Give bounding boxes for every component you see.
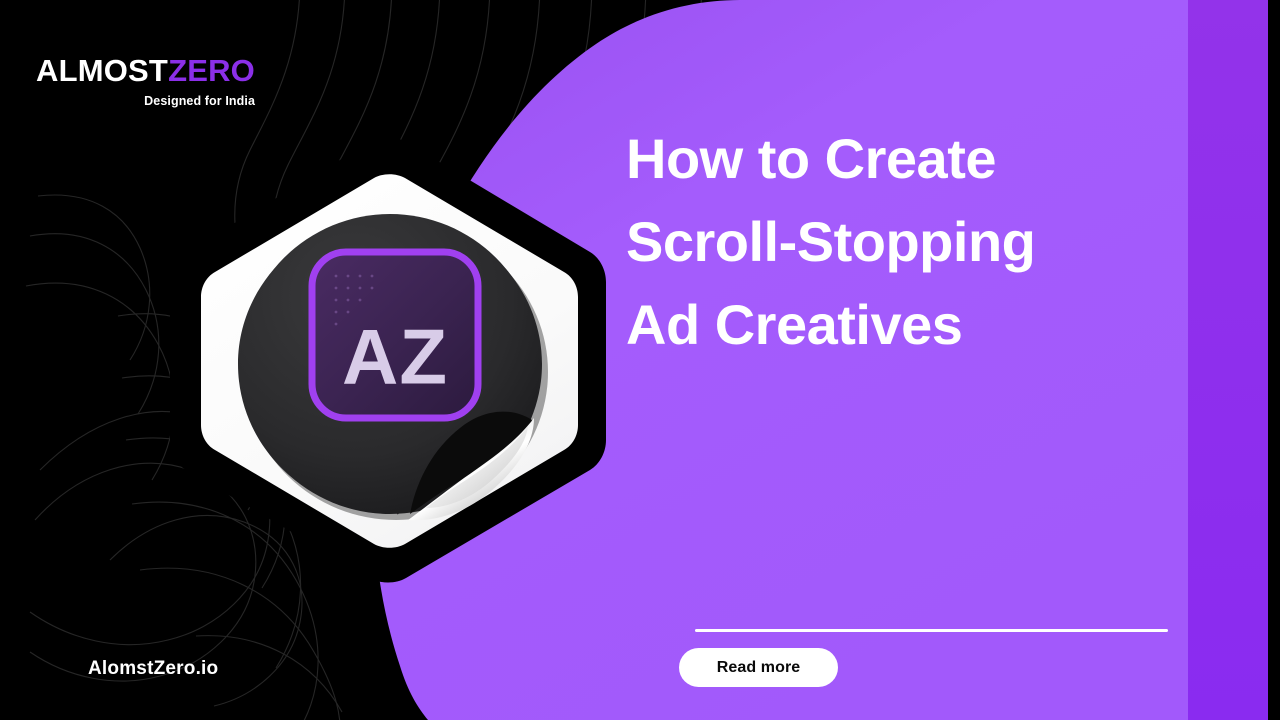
logo-badge: AZ — [160, 120, 640, 590]
divider-line — [695, 629, 1168, 632]
headline-line-1: How to Create — [626, 118, 1186, 201]
brand-logo-wordmark: ALMOSTZERO — [36, 55, 255, 86]
read-more-button[interactable]: Read more — [679, 648, 838, 687]
az-badge-initials: AZ — [342, 313, 448, 401]
brand-logo[interactable]: ALMOSTZERO Designed for India — [36, 55, 255, 108]
site-url: AlomstZero.io — [88, 658, 218, 680]
headline: How to Create Scroll-Stopping Ad Creativ… — [626, 118, 1186, 367]
headline-line-3: Ad Creatives — [626, 284, 1186, 367]
brand-logo-primary: ALMOST — [36, 53, 168, 88]
brand-logo-accent: ZERO — [168, 53, 255, 88]
headline-line-2: Scroll-Stopping — [626, 201, 1186, 284]
brand-tagline: Designed for India — [36, 95, 255, 108]
az-badge: AZ — [312, 252, 478, 418]
ad-banner: How to Create Scroll-Stopping Ad Creativ… — [0, 0, 1280, 720]
